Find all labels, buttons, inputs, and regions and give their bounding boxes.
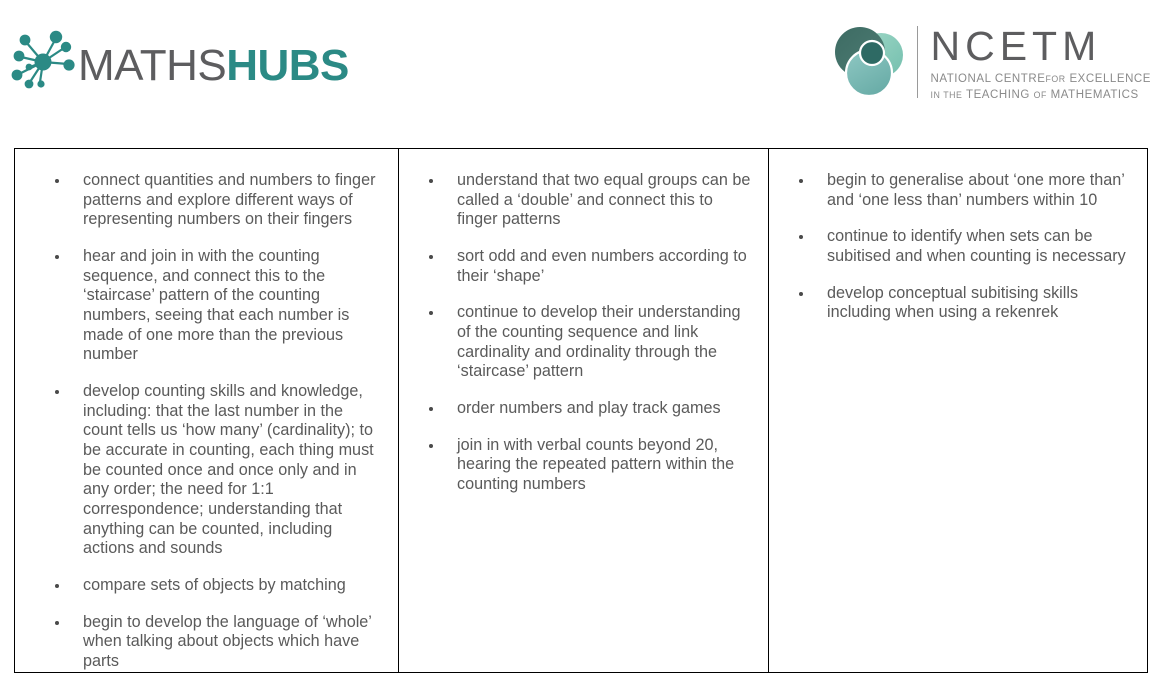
ncetm-strapline-line-2: IN THE TEACHING OF MATHEMATICS [930, 88, 1151, 104]
mathshubs-word-hubs: HUBS [226, 41, 349, 90]
ncetm-strapline-1b: FOR [1045, 74, 1065, 84]
bullet-item: develop conceptual subitising skills inc… [769, 284, 1133, 323]
mathshubs-word-maths: MATHS [78, 41, 226, 90]
bullet-item: hear and join in with the counting seque… [15, 247, 384, 365]
bullet-list-column-2: understand that two equal groups can be … [399, 171, 754, 495]
ncetm-strapline-2c: OF [1034, 90, 1047, 100]
bullet-item: connect quantities and numbers to finger… [15, 171, 384, 230]
ncetm-strapline-1a: NATIONAL CENTRE [930, 73, 1045, 85]
bullet-item: begin to develop the language of ‘whole’… [15, 613, 384, 672]
page-header: MATHSHUBS [0, 0, 1161, 130]
bullet-item: order numbers and play track games [399, 399, 754, 419]
table-column-2: understand that two equal groups can be … [399, 149, 769, 672]
progression-table: connect quantities and numbers to finger… [14, 148, 1148, 673]
table-column-1: connect quantities and numbers to finger… [15, 149, 399, 672]
ncetm-divider-rule [917, 26, 918, 98]
ncetm-strapline-line-1: NATIONAL CENTREFOR EXCELLENCE [930, 72, 1151, 88]
bullet-item: continue to identify when sets can be su… [769, 227, 1133, 266]
ncetm-logo: NCETM NATIONAL CENTREFOR EXCELLENCE IN T… [829, 24, 1151, 104]
bullet-item: develop counting skills and knowledge, i… [15, 382, 384, 559]
ncetm-strapline-2b: TEACHING [966, 89, 1030, 101]
mathshubs-logo: MATHSHUBS [10, 24, 349, 96]
ncetm-title: NCETM [930, 23, 1101, 69]
network-node-icon [10, 24, 76, 96]
table-column-3: begin to generalise about ‘one more than… [769, 149, 1147, 672]
bullet-item: compare sets of objects by matching [15, 576, 384, 596]
bullet-item: join in with verbal counts beyond 20, he… [399, 436, 754, 495]
ncetm-strapline-1c: EXCELLENCE [1069, 73, 1151, 85]
ncetm-strapline-2d: MATHEMATICS [1051, 89, 1139, 101]
mathshubs-wordmark: MATHSHUBS [78, 44, 349, 88]
ncetm-strapline-2a: IN THE [930, 90, 962, 100]
three-overlapping-circles-icon [829, 24, 911, 104]
ncetm-text-block: NCETM NATIONAL CENTREFOR EXCELLENCE IN T… [930, 24, 1151, 103]
bullet-list-column-3: begin to generalise about ‘one more than… [769, 171, 1133, 323]
bullet-item: sort odd and even numbers according to t… [399, 247, 754, 286]
bullet-item: begin to generalise about ‘one more than… [769, 171, 1133, 210]
bullet-list-column-1: connect quantities and numbers to finger… [15, 171, 384, 672]
bullet-item: understand that two equal groups can be … [399, 171, 754, 230]
bullet-item: continue to develop their understanding … [399, 303, 754, 382]
